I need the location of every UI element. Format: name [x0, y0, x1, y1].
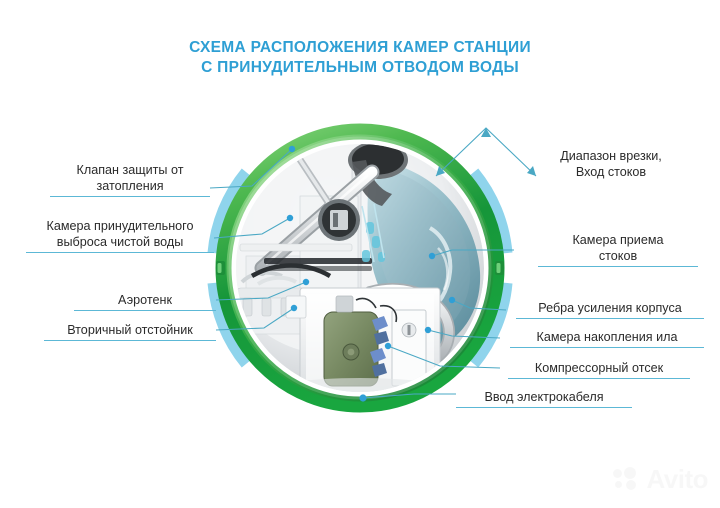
label-underline-sewage-receiving-chamber: [538, 266, 698, 267]
label-body-stiffening-ribs: Ребра усиления корпуса: [516, 300, 704, 316]
label-electrical-cable-entry: Ввод электрокабеля: [456, 389, 632, 405]
label-underline-electrical-cable-entry: [456, 407, 632, 408]
label-underline-flood-protection-valve: [50, 196, 210, 197]
label-aerotank: Аэротенк: [74, 292, 216, 308]
label-sewage-receiving-chamber: Камера приема стоков: [538, 232, 698, 264]
label-underline-compressor-compartment: [508, 378, 690, 379]
label-tie-in-range-inlet: Диапазон врезки, Вход стоков: [528, 148, 694, 180]
avito-watermark: Avito: [613, 464, 708, 494]
avito-wordmark: Avito: [646, 464, 708, 495]
pipe-fitting-disc: [318, 199, 360, 241]
diagram-page: СХЕМА РАСПОЛОЖЕНИЯ КАМЕР СТАНЦИИ С ПРИНУ…: [0, 0, 720, 508]
label-underline-secondary-settler: [44, 340, 216, 341]
label-forced-clean-water-discharge-chamber: Камера принудительного выброса чистой во…: [26, 218, 214, 250]
label-underline-aerotank: [74, 310, 216, 311]
label-underline-sludge-accumulation-chamber: [510, 347, 704, 348]
label-underline-forced-clean-water-discharge-chamber: [26, 252, 214, 253]
label-underline-body-stiffening-ribs: [516, 318, 704, 319]
label-sludge-accumulation-chamber: Камера накопления ила: [510, 329, 704, 345]
avito-logo-icon: [613, 466, 643, 492]
label-compressor-compartment: Компрессорный отсек: [508, 360, 690, 376]
label-secondary-settler: Вторичный отстойник: [44, 322, 216, 338]
label-flood-protection-valve: Клапан защиты от затопления: [50, 162, 210, 194]
